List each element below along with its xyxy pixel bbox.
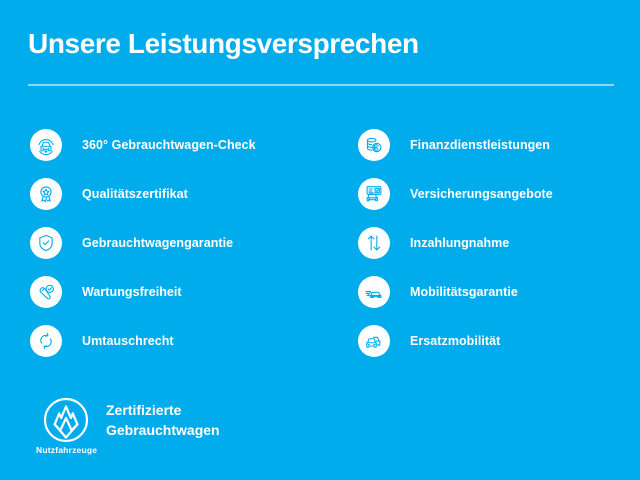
feature-label: Umtauschrecht: [82, 334, 174, 348]
logo-subtitle: Nutzfahrzeuge: [36, 445, 96, 455]
feature-label: Mobilitätsgarantie: [410, 285, 518, 299]
feature-row: 360° Gebrauchtwagen-Check: [30, 120, 330, 169]
feature-row: Ersatzmobilität: [358, 316, 638, 365]
coins-euro-icon: [358, 129, 390, 161]
page-title: Unsere Leistungsversprechen: [28, 28, 419, 60]
feature-label: Qualitätszertifikat: [82, 187, 188, 201]
up-down-arrows-icon: [358, 227, 390, 259]
feature-row: Finanzdienstleistungen: [358, 120, 638, 169]
slide-root: Unsere Leistungsversprechen 360° Gebrauc…: [0, 0, 640, 480]
feature-row: Inzahlungnahme: [358, 218, 638, 267]
features-column-left: 360° Gebrauchtwagen-Check Qualitätszerti…: [30, 120, 330, 365]
shield-check-icon: [30, 227, 62, 259]
features-column-right: Finanzdienstleistungen Versicherungsange…: [358, 120, 638, 365]
feature-row: Mobilitätsgarantie: [358, 267, 638, 316]
wrench-check-icon: [30, 276, 62, 308]
feature-row: Wartungsfreiheit: [30, 267, 330, 316]
feature-label: Gebrauchtwagengarantie: [82, 236, 233, 250]
feature-row: Umtauschrecht: [30, 316, 330, 365]
brand-tagline: Zertifizierte Gebrauchtwagen: [106, 401, 220, 440]
feature-row: Gebrauchtwagengarantie: [30, 218, 330, 267]
feature-label: Inzahlungnahme: [410, 236, 509, 250]
volkswagen-logo: Nutzfahrzeuge: [36, 396, 96, 455]
feature-label: Versicherungsangebote: [410, 187, 553, 201]
feature-label: Ersatzmobilität: [410, 334, 500, 348]
feature-row: Qualitätszertifikat: [30, 169, 330, 218]
brand-footer: Nutzfahrzeuge Zertifizierte Gebrauchtwag…: [30, 396, 430, 460]
award-rosette-icon: [30, 178, 62, 210]
feature-label: 360° Gebrauchtwagen-Check: [82, 138, 256, 152]
car-motion-check-icon: [358, 276, 390, 308]
insurance-document-car-icon: [358, 178, 390, 210]
exchange-arrows-icon: [30, 325, 62, 357]
brand-tagline-line2: Gebrauchtwagen: [106, 421, 220, 441]
brand-tagline-line1: Zertifizierte: [106, 401, 220, 421]
feature-row: Versicherungsangebote: [358, 169, 638, 218]
car-inspection-icon: [30, 129, 62, 161]
feature-label: Wartungsfreiheit: [82, 285, 182, 299]
vw-roundel-icon: [42, 396, 90, 444]
title-divider: [28, 84, 614, 86]
feature-label: Finanzdienstleistungen: [410, 138, 550, 152]
two-cars-icon: [358, 325, 390, 357]
